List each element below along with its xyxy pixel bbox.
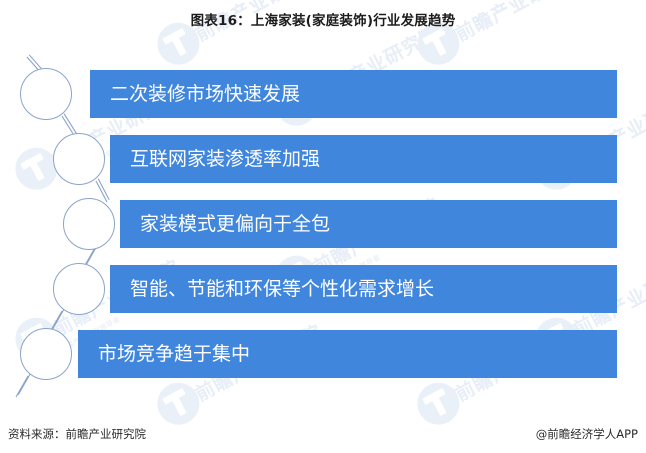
footer-source: 资料来源：前瞻产业研究院 [8, 426, 146, 442]
node-circle[interactable] [53, 133, 105, 185]
footer-brand: @前瞻经济学人APP [536, 426, 638, 442]
node-circle[interactable] [53, 263, 105, 315]
node-circle[interactable] [63, 198, 115, 250]
footer: 资料来源：前瞻产业研究院 @前瞻经济学人APP [0, 426, 646, 442]
node-circle[interactable] [20, 68, 72, 120]
chart-title: 图表16：上海家装(家庭装饰)行业发展趋势 [0, 9, 646, 29]
figure-root: 前瞻产业研究院中国产业咨询领导者前瞻产业研究院中国产业咨询领导者前瞻产业研究院中… [0, 0, 646, 453]
node-circle[interactable] [20, 328, 72, 380]
node-circle-layer [0, 0, 646, 453]
